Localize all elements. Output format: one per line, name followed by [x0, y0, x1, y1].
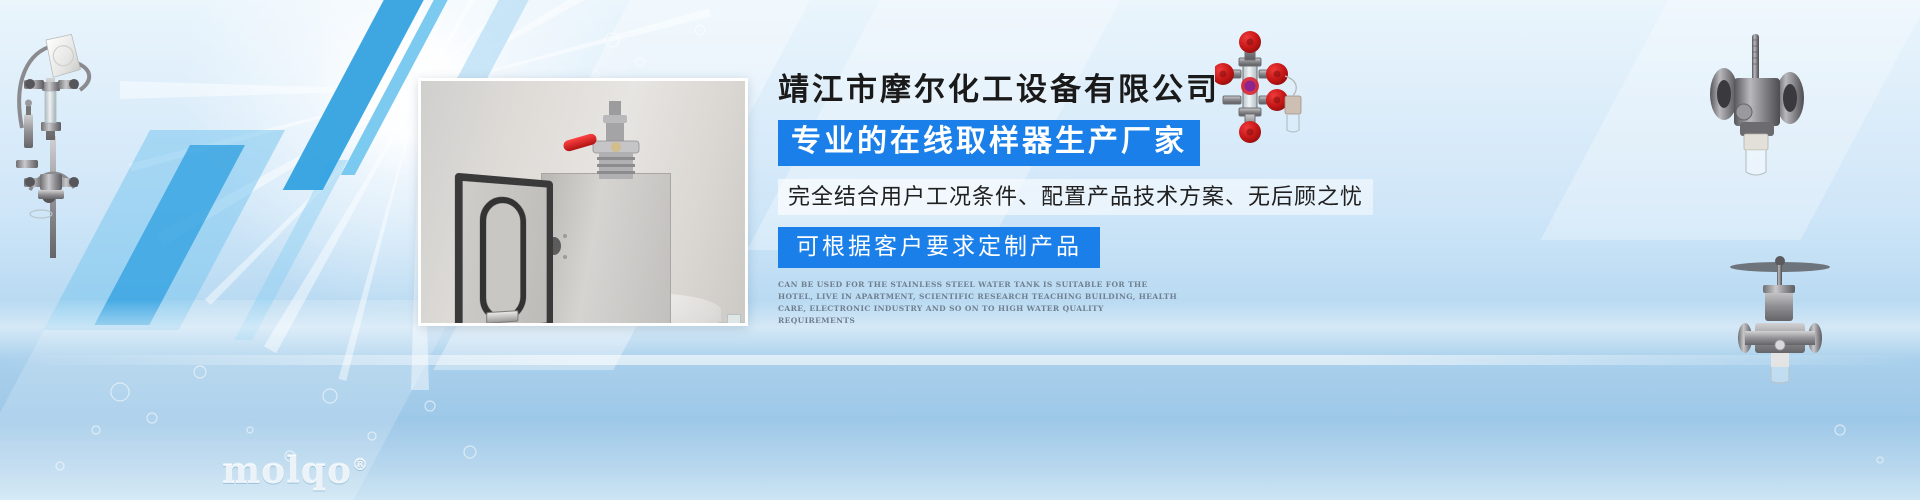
center-product-photo	[418, 78, 748, 326]
bg-stripe-white-3	[1540, 0, 1920, 240]
promotional-banner: 靖江市摩尔化工设备有限公司 专业的在线取样器生产厂家 完全结合用户工况条件、配置…	[0, 0, 1920, 500]
photo-door-latch	[486, 310, 518, 324]
registered-trademark-icon: ®	[352, 455, 369, 474]
product-render-gate-valve	[1725, 225, 1835, 385]
product-render-left-sampler	[8, 18, 168, 258]
company-name: 靖江市摩尔化工设备有限公司	[778, 72, 1418, 109]
photo-cabinet-door	[455, 173, 553, 326]
sub-headline: 完全结合用户工况条件、配置产品技术方案、无后顾之忧	[778, 179, 1373, 215]
main-headline: 专业的在线取样器生产厂家	[778, 120, 1200, 166]
bg-horizon-line	[0, 355, 1920, 365]
bg-stripe-blue-6	[234, 160, 348, 340]
watermark-logo-text: molqo	[222, 450, 352, 492]
bg-stripe-blue-3	[456, 0, 550, 80]
bg-stripe-blue-4	[44, 130, 285, 330]
english-caption: CAN BE USED FOR THE STAINLESS STEEL WATE…	[778, 279, 1178, 328]
product-render-flanged-valve	[1700, 28, 1810, 178]
photo-sample-bottle	[717, 322, 748, 326]
headline-text-block: 靖江市摩尔化工设备有限公司 专业的在线取样器生产厂家 完全结合用户工况条件、配置…	[778, 72, 1418, 327]
bg-stripe-blue-5	[94, 145, 245, 325]
custom-product-cta[interactable]: 可根据客户要求定制产品	[778, 227, 1100, 267]
watermark-logo: molqo®	[222, 450, 369, 492]
photo-cabinet-body	[541, 173, 671, 325]
